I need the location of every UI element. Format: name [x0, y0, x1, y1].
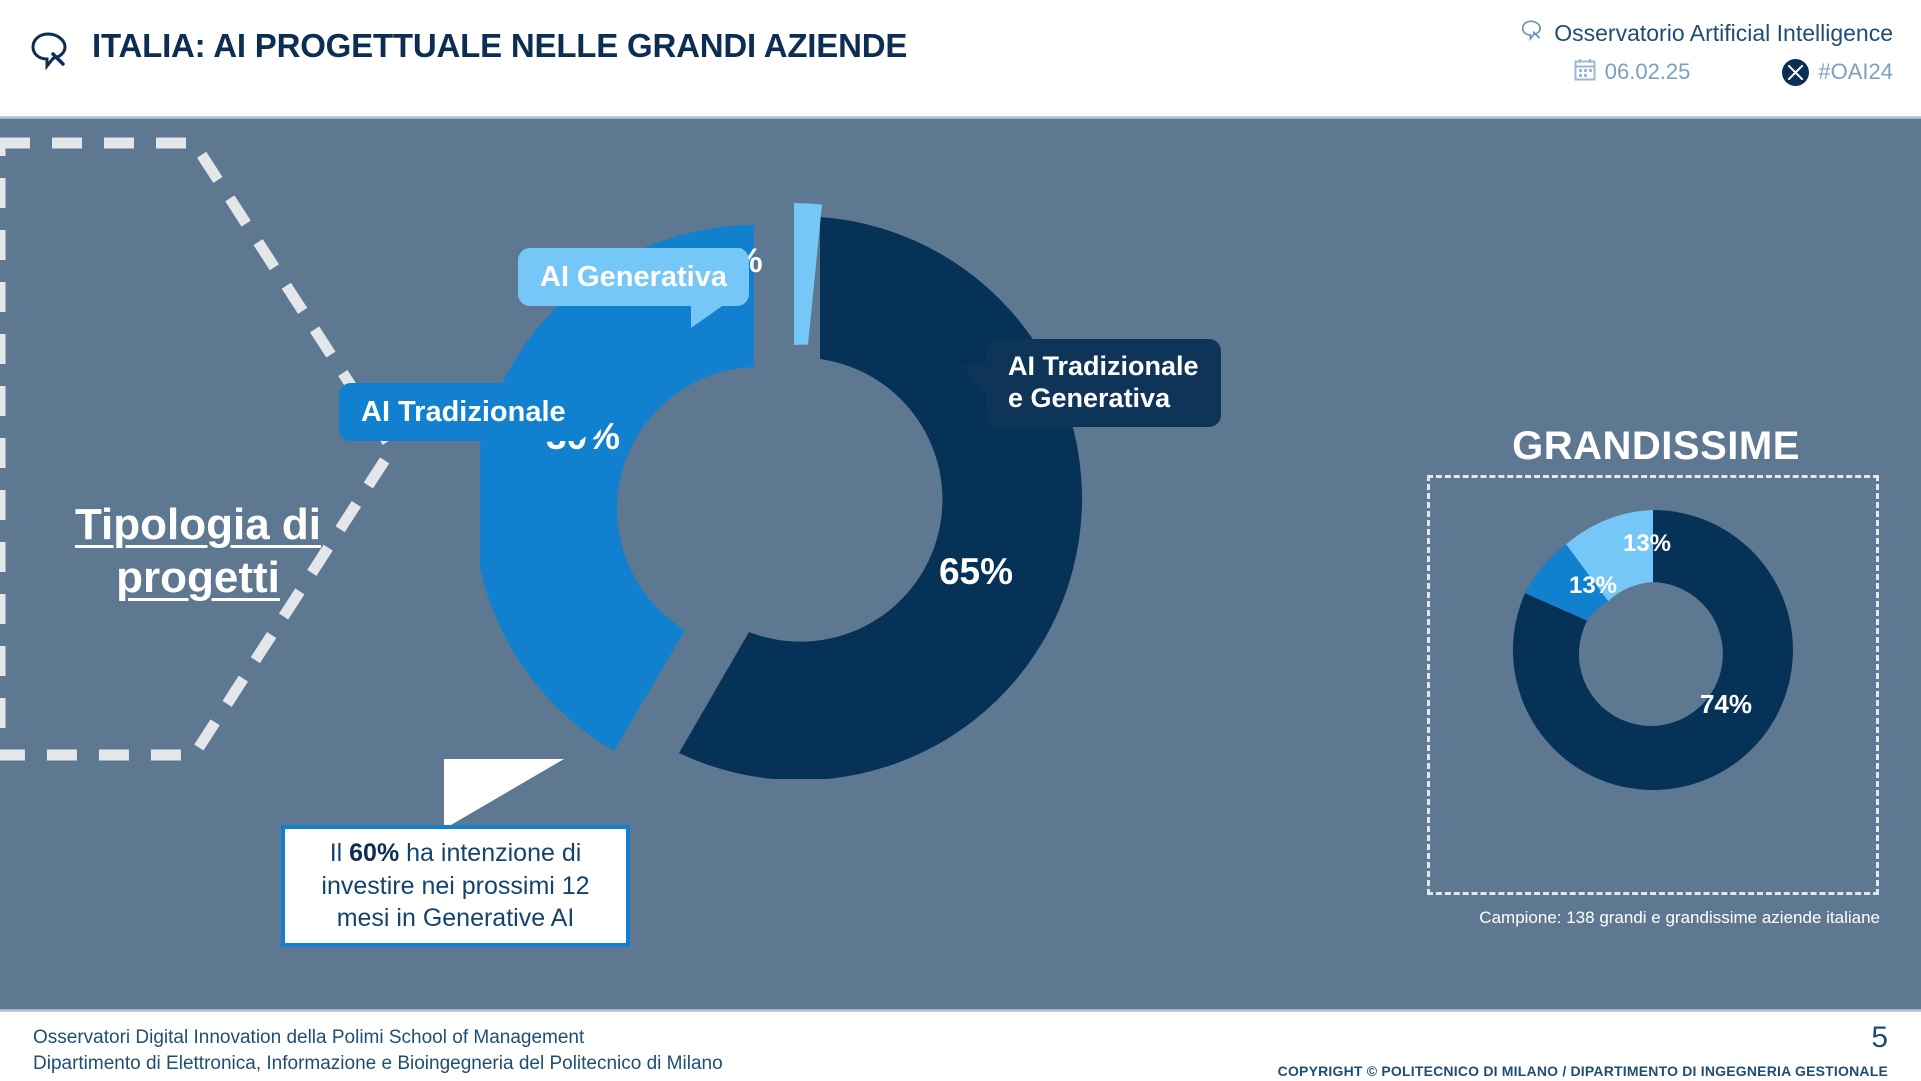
label-ai-tradizionale: AI Tradizionale	[339, 383, 588, 441]
date-group: 06.02.25	[1574, 58, 1691, 86]
callout-investimento: Il 60% ha intenzione di investire nei pr…	[281, 825, 630, 947]
brand-name: Osservatorio Artificial Intelligence	[1554, 20, 1893, 47]
pill-tail	[691, 304, 725, 328]
footer-line-2: Dipartimento di Elettronica, Informazion…	[33, 1051, 723, 1077]
callout-prefix: Il	[330, 839, 349, 867]
pill-tail	[586, 413, 614, 447]
small-donut-value-74: 74%	[1700, 689, 1752, 719]
callout-tail	[444, 759, 564, 829]
label-ai-generativa: AI Generativa	[518, 248, 749, 306]
tipologia-line-1: Tipologia di	[75, 500, 321, 549]
callout-highlight: 60%	[349, 839, 399, 867]
hashtag-group: #OAI24	[1782, 59, 1893, 86]
brand-meta-line: 06.02.25 #OAI24	[1373, 58, 1893, 86]
page-number: 5	[1871, 1021, 1888, 1055]
donut-value-65: 65%	[939, 551, 1013, 592]
page-title: ITALIA: AI PROGETTUALE NELLE GRANDI AZIE…	[92, 27, 907, 65]
small-donut-value-13-blue: 13%	[1569, 572, 1617, 599]
label-trad-gen-line2: e Generativa	[1008, 383, 1170, 413]
slide-footer: Osservatori Digital Innovation della Pol…	[0, 1009, 1921, 1081]
label-ai-generativa-text: AI Generativa	[540, 261, 727, 293]
tipologia-line-2: progetti	[116, 553, 280, 602]
tipologia-title: Tipologia di progetti	[18, 499, 378, 605]
copyright-notice: COPYRIGHT © POLITECNICO DI MILANO / DIPA…	[1278, 1063, 1888, 1079]
donut-slice-generativa	[794, 203, 822, 345]
calendar-icon	[1574, 58, 1596, 86]
slide-body: Tipologia di progetti 65% 30% 5% AI Gene…	[0, 119, 1921, 1009]
slide-header: ITALIA: AI PROGETTUALE NELLE GRANDI AZIE…	[0, 0, 1921, 119]
brand-line: Osservatorio Artificial Intelligence	[1373, 18, 1893, 48]
pill-tail	[962, 365, 988, 397]
tipologia-arrow-shape	[0, 129, 414, 774]
label-ai-tradizionale-text: AI Tradizionale	[361, 396, 566, 428]
small-donut-value-13-light: 13%	[1623, 530, 1671, 557]
observatory-logo-icon	[28, 28, 72, 72]
label-trad-gen-line1: AI Tradizionale	[1008, 351, 1199, 381]
presentation-date: 06.02.25	[1605, 59, 1691, 85]
x-logo-icon	[1782, 59, 1809, 86]
grandissime-donut-chart: 74% 13% 13%	[1503, 500, 1803, 805]
brand-block: Osservatorio Artificial Intelligence	[1373, 18, 1893, 86]
sample-note: Campione: 138 grandi e grandissime azien…	[1180, 908, 1880, 928]
footer-divider	[0, 1009, 1921, 1012]
brand-magnifier-icon	[1520, 18, 1544, 48]
label-ai-tradizionale-e-generativa: AI Tradizionale e Generativa	[986, 339, 1221, 427]
grandissime-title: GRANDISSIME	[1433, 424, 1879, 469]
footer-organization: Osservatori Digital Innovation della Pol…	[33, 1025, 723, 1077]
event-hashtag: #OAI24	[1818, 59, 1893, 85]
footer-line-1: Osservatori Digital Innovation della Pol…	[33, 1025, 723, 1051]
